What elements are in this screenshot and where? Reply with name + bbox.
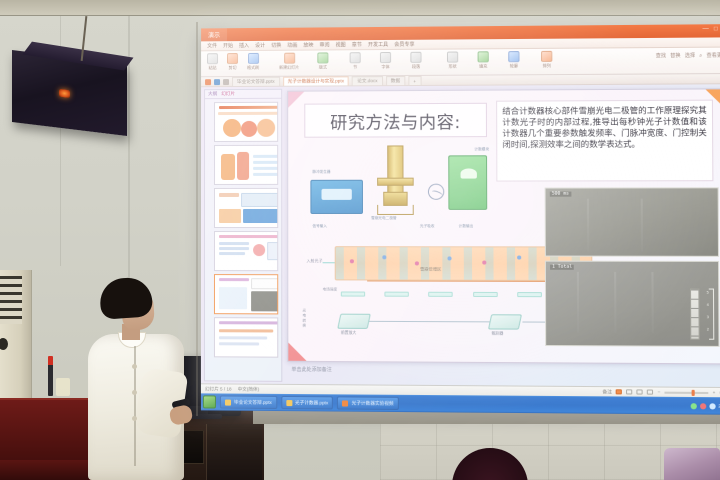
- apparatus-diagram: 脉冲发生器 雪崩光电二极管 计数模块 信号输入 光子吸收 计数输出: [306, 147, 489, 232]
- ribbon-button[interactable]: 排列: [541, 51, 552, 69]
- discriminator-label: 甄别器: [492, 332, 504, 337]
- carrier-dot: [517, 255, 521, 259]
- menu-item[interactable]: 动画: [287, 42, 297, 49]
- find-button[interactable]: 查找: [656, 52, 666, 59]
- ruler-value: 5: [707, 291, 709, 295]
- video-total-label: 1 Total: [550, 265, 574, 270]
- presenter: [78, 278, 188, 480]
- slideshow-icon[interactable]: [647, 390, 653, 395]
- thumb-graphic: [253, 244, 265, 256]
- desk-front-panel: [0, 460, 90, 480]
- menu-item[interactable]: 放映: [303, 42, 313, 49]
- ribbon-button[interactable]: 字体: [380, 52, 391, 70]
- list-item[interactable]: 1: [214, 102, 278, 142]
- cup: [56, 378, 70, 396]
- thumb-line: [253, 155, 278, 158]
- carrier-dot: [482, 261, 486, 265]
- thumb-line: [219, 252, 245, 255]
- taskbar-item-label: 光子计数器.pptx: [295, 400, 328, 406]
- shirt-button: [132, 364, 137, 369]
- ruler-value: 2: [707, 327, 709, 331]
- thumb-graphic: [219, 209, 241, 223]
- zoom-slider[interactable]: [665, 391, 709, 393]
- thumbnail-pane-header: 大纲 幻灯片: [205, 90, 281, 99]
- network-icon[interactable]: [690, 403, 696, 409]
- thumb-graphic: [267, 242, 278, 260]
- menu-item[interactable]: 切换: [271, 42, 281, 49]
- ribbon-button[interactable]: 新建幻灯片: [279, 53, 299, 71]
- taskbar-item-label: 光子计数器实验视频: [352, 400, 394, 406]
- undo-icon[interactable]: [214, 79, 220, 85]
- maximize-icon[interactable]: □: [714, 26, 718, 33]
- photon-swirl-icon: [426, 181, 447, 202]
- slide-counter: 幻灯片 5 / 18: [205, 386, 232, 392]
- power-led-icon: [59, 89, 70, 98]
- new-slide-icon: [284, 53, 295, 64]
- projection-screen: 演示 — □ ✕ 文件 开始 插入 设计 切换 动画 放映 审阅 视图 章节 开…: [201, 24, 720, 415]
- cut-icon: [227, 53, 238, 64]
- outline-icon: [508, 51, 519, 62]
- thumb-line: [253, 167, 278, 170]
- new-tab-button[interactable]: +: [408, 76, 421, 85]
- scale-segment: [517, 292, 542, 297]
- shirt-button: [132, 416, 137, 421]
- chain-label: 换: [302, 323, 312, 328]
- wall-speaker: [12, 50, 127, 136]
- volume-icon[interactable]: [699, 403, 705, 409]
- slides-tab[interactable]: 幻灯片: [221, 91, 235, 97]
- video-noise: [587, 199, 589, 252]
- pulse-generator-display: [321, 189, 351, 200]
- thumb-graphic: [243, 209, 278, 223]
- axis-label: 电场强度: [323, 288, 338, 292]
- layout-icon: [317, 52, 328, 63]
- normal-view-icon[interactable]: [616, 389, 622, 394]
- ribbon-button[interactable]: 形状: [447, 52, 458, 70]
- start-button[interactable]: [203, 395, 216, 408]
- thumb-title-bar: [219, 106, 278, 109]
- menu-item[interactable]: 会员专享: [394, 41, 414, 48]
- ribbon-label: 节: [353, 64, 357, 70]
- thumb-graphic: [241, 121, 257, 137]
- ribbon-button[interactable]: 版式: [317, 52, 328, 70]
- system-tray[interactable]: 20:14: [690, 399, 720, 413]
- ribbon-button[interactable]: 轮廓: [508, 51, 519, 69]
- marker-pen: [48, 356, 53, 396]
- editor-workspace: 大纲 幻灯片 1 2: [201, 84, 720, 387]
- search-icon[interactable]: ⌕: [699, 52, 702, 58]
- slide-canvas[interactable]: 研究方法与内容: 结合计数器核心部件雪崩光电二极管的工作原理探究其计数光子时的内…: [287, 88, 720, 364]
- video-timestamp-label: 500 ms: [550, 192, 571, 197]
- list-item[interactable]: 4: [214, 231, 278, 271]
- presenter-hair: [99, 276, 154, 320]
- menu-item[interactable]: 设计: [255, 42, 265, 49]
- thumb-title-bar: [219, 278, 249, 281]
- ribbon-label: 轮廓: [510, 63, 518, 69]
- tube-label: 雪崩倍增区: [420, 266, 441, 272]
- app-title-tab[interactable]: 演示: [201, 28, 227, 41]
- scale-segment: [385, 292, 409, 297]
- shape-icon: [447, 52, 458, 63]
- list-item-selected[interactable]: 5: [214, 274, 278, 314]
- signal-chain-labels: 光 电 转 换: [302, 308, 312, 328]
- menu-item[interactable]: 文件: [207, 42, 217, 49]
- window-controls[interactable]: — □ ✕: [702, 26, 720, 33]
- scale-segment: [429, 292, 454, 297]
- ribbon-label: 填充: [479, 63, 487, 69]
- ribbon-label: 粘贴: [209, 65, 217, 71]
- list-item[interactable]: 3: [214, 188, 278, 228]
- thumb-band: [218, 112, 278, 115]
- scale-segment: [473, 292, 498, 297]
- slide-title[interactable]: 研究方法与内容:: [304, 103, 487, 138]
- pulse-generator-box: [310, 180, 363, 214]
- video-frame-top[interactable]: 500 ms: [545, 187, 719, 257]
- menu-item[interactable]: 审阅: [319, 41, 329, 48]
- document-tab[interactable]: 毕业论文答辩.pptx: [232, 77, 280, 86]
- ribbon-button[interactable]: 节: [350, 52, 361, 70]
- thumb-graphic: [221, 154, 235, 180]
- thumb-graphic: [241, 193, 278, 207]
- apd-flange: [377, 178, 414, 186]
- discriminator-box: [488, 314, 522, 329]
- sorter-view-icon[interactable]: [626, 389, 632, 394]
- thumb-title-bar: [219, 235, 278, 238]
- ruler-ticks: [691, 289, 699, 338]
- podium-computer-tower: [206, 424, 262, 480]
- thumb-graphic: [257, 119, 275, 137]
- ribbon-label: 形状: [449, 64, 457, 70]
- language-indicator[interactable]: 中文(简体): [238, 386, 260, 392]
- more-button[interactable]: 查看更多: [706, 52, 720, 59]
- preamp-box: [337, 314, 371, 329]
- apd-column: [387, 145, 403, 195]
- taskbar-item-label: 毕业论文答辩.pptx: [234, 399, 272, 405]
- ceiling-band: [0, 0, 720, 16]
- diagram-caption: 雪崩光电二极管: [371, 216, 397, 221]
- taskbar-item[interactable]: 毕业论文答辩.pptx: [220, 395, 277, 409]
- ribbon-label: 剪切: [229, 65, 237, 71]
- section-icon: [350, 52, 361, 63]
- outline-tab[interactable]: 大纲: [208, 91, 217, 97]
- menu-item[interactable]: 视图: [336, 41, 346, 48]
- pptx-icon: [286, 400, 292, 406]
- document-tab[interactable]: 论文.docx: [352, 76, 383, 85]
- decor-corner-bottom-left: [288, 343, 306, 361]
- carrier-dot: [350, 259, 354, 263]
- ac-vent-louvers-icon: [0, 276, 22, 324]
- slide-thumbnail-pane[interactable]: 大纲 幻灯片 1 2: [204, 89, 282, 382]
- arrange-icon: [541, 51, 552, 62]
- thumb-line: [219, 242, 249, 245]
- video-noise: [651, 272, 653, 333]
- taskbar-item[interactable]: 光子计数器实验视频: [337, 396, 398, 410]
- menu-item[interactable]: 开始: [223, 42, 233, 49]
- bag: [664, 448, 720, 480]
- save-icon[interactable]: [205, 79, 211, 85]
- slide-body-text[interactable]: 结合计数器核心部件雪崩光电二极管的工作原理探究其计数光子时的内部过程,推导出每秒…: [496, 100, 713, 182]
- ribbon-label: 段落: [412, 64, 420, 70]
- menu-item[interactable]: 章节: [352, 41, 362, 48]
- paragraph-icon: [410, 52, 421, 63]
- ribbon-button[interactable]: 填充: [478, 51, 489, 69]
- carrier-dot: [447, 256, 451, 260]
- paste-icon: [207, 53, 218, 64]
- video-noise: [641, 199, 643, 252]
- minimize-icon[interactable]: —: [702, 26, 708, 33]
- thumb-line: [253, 173, 278, 176]
- video-frame-bottom[interactable]: 1 Total 5 4 3 2: [545, 261, 720, 347]
- thumb-graphic: [251, 291, 278, 311]
- ribbon-toolbar[interactable]: 粘贴 剪切 格式刷 新建幻灯片 版式 节: [201, 48, 720, 78]
- thumb-graphic: [219, 287, 247, 309]
- scale-segment: [341, 291, 365, 296]
- thumb-line: [219, 193, 239, 197]
- ribbon-button[interactable]: 剪切: [227, 53, 238, 71]
- ribbon-label: 排列: [543, 63, 551, 69]
- thumb-line: [219, 342, 259, 345]
- ribbon-label: 格式刷: [247, 65, 259, 71]
- ime-icon[interactable]: [709, 403, 715, 409]
- carrier-dot: [382, 255, 386, 259]
- classroom-scene: 演示 — □ ✕ 文件 开始 插入 设计 切换 动画 放映 审阅 视图 章节 开…: [0, 0, 720, 480]
- document-tab-active[interactable]: 光子计数器设计与实现.pptx: [283, 76, 349, 85]
- ruler-value: 3: [707, 315, 709, 319]
- ribbon-button[interactable]: 粘贴: [207, 53, 218, 71]
- ribbon-label: 版式: [319, 64, 327, 70]
- list-item[interactable]: 6: [214, 317, 278, 358]
- ruler-value: 4: [707, 303, 709, 307]
- diagram-caption: 脉冲发生器: [312, 170, 330, 175]
- counter-module-display: [461, 168, 477, 178]
- ribbon-button[interactable]: 格式刷: [247, 53, 259, 71]
- apd-base: [383, 192, 407, 206]
- diagram-caption: 计数模块: [474, 147, 489, 152]
- measurement-ruler: [690, 288, 700, 339]
- taskbar-item[interactable]: 光子计数器.pptx: [281, 396, 333, 410]
- ribbon-label: 字体: [381, 64, 389, 70]
- thumb-graphic: [251, 278, 278, 289]
- pptx-icon: [225, 399, 231, 405]
- thumb-title-bar: [219, 321, 278, 324]
- thumb-graphic: [237, 152, 249, 180]
- diagram-caption: 计数输出: [459, 224, 474, 229]
- ribbon-button[interactable]: 段落: [410, 52, 421, 70]
- select-button[interactable]: 选择: [685, 52, 695, 59]
- video-icon: [342, 400, 348, 406]
- notes-view-button[interactable]: 备注: [602, 389, 612, 395]
- menu-item[interactable]: 开发工具: [368, 41, 388, 48]
- ribbon-label: 新建幻灯片: [279, 65, 299, 71]
- thumb-graphic: [223, 119, 241, 137]
- redo-icon[interactable]: [223, 79, 229, 85]
- status-bar-right[interactable]: 备注 − + 66%: [602, 389, 720, 396]
- replace-button[interactable]: 替换: [670, 52, 680, 59]
- shirt-button: [132, 390, 137, 395]
- font-icon: [380, 52, 391, 63]
- carrier-dot: [415, 261, 419, 265]
- notes-pane[interactable]: 单击此处添加备注: [287, 364, 720, 383]
- connector: [369, 321, 489, 323]
- menu-item[interactable]: 插入: [239, 42, 249, 49]
- zoom-in-button[interactable]: +: [713, 390, 716, 395]
- counter-module-box: [448, 155, 487, 210]
- input-label: 入射光子: [306, 258, 322, 264]
- reading-view-icon[interactable]: [637, 389, 643, 394]
- fill-icon: [478, 51, 489, 62]
- apd-legs: [377, 205, 414, 215]
- field-arrow: [367, 280, 559, 282]
- thumb-line: [253, 161, 278, 164]
- document-tab[interactable]: 数据: [386, 76, 405, 85]
- preamp-label: 前置放大: [341, 331, 356, 336]
- format-painter-icon: [248, 53, 259, 64]
- list-item[interactable]: 2: [214, 145, 278, 185]
- thumb-line: [219, 329, 273, 332]
- video-noise: [577, 272, 579, 333]
- diagram-caption: 信号输入: [312, 224, 327, 229]
- ruler-bracket: [709, 289, 715, 340]
- thumb-line: [219, 336, 267, 339]
- zoom-out-button[interactable]: −: [658, 390, 661, 395]
- thumb-line: [219, 247, 249, 250]
- decor-corner-top-left: [288, 92, 304, 108]
- ribbon-right-tools[interactable]: 查找 替换 选择 ⌕ 查看更多: [656, 52, 720, 60]
- diagram-caption: 光子吸收: [420, 224, 435, 229]
- video-noise: [614, 272, 616, 333]
- zoom-slider-thumb[interactable]: [692, 389, 695, 395]
